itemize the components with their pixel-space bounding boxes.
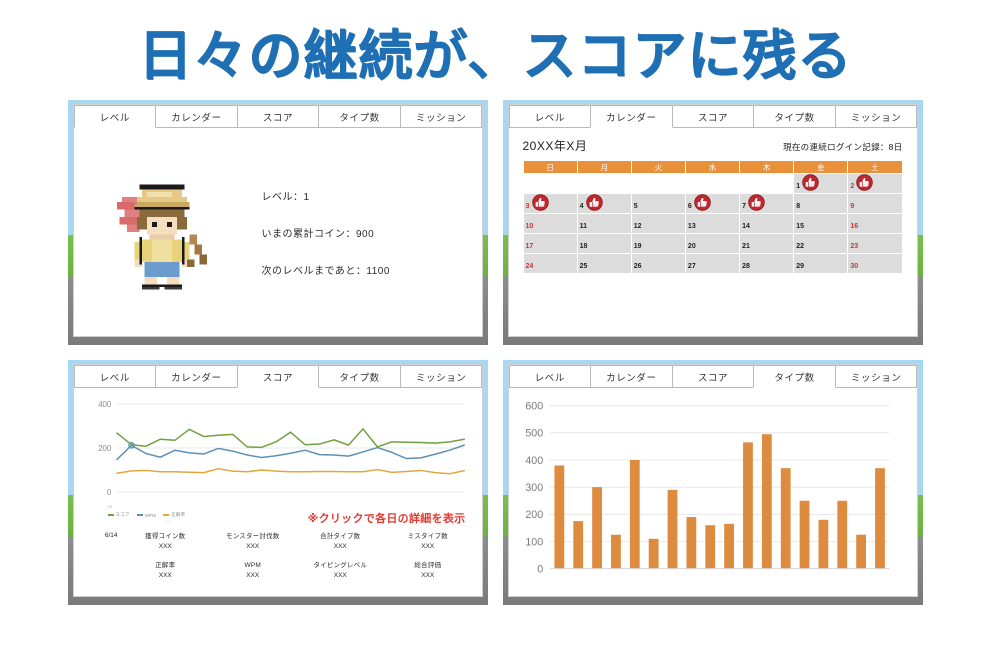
calendar-cell-15[interactable]: 15 [794,214,848,234]
legend-label: 正解率 [171,512,185,518]
calendar-day-number: 28 [742,263,750,270]
tabbar-typecount: レベル カレンダー スコア タイプ数 ミッション [509,365,917,388]
calendar-week-row: 1 2 [523,174,902,194]
calendar-day-number: 15 [796,223,804,230]
tabbar-level: レベル カレンダー スコア タイプ数 ミッション [74,105,482,128]
calendar-day-number: 30 [850,263,858,270]
calendar-cell-27[interactable]: 27 [685,254,739,274]
detail-row-2: 正解率XXXWPMXXXタイピングレベルXXX総合評価XXX [84,561,472,581]
calendar-cell-9[interactable]: 9 [848,194,902,214]
calendar-day-number: 19 [634,243,642,250]
thumbs-up-stamp-icon [748,194,765,211]
svg-text:0: 0 [106,488,111,497]
calendar-day-number: 27 [688,263,696,270]
click-hint-note: ※クリックで各日の詳細を表示 [308,510,466,526]
tab-calendar[interactable]: カレンダー [590,365,673,387]
svg-text:200: 200 [525,509,543,521]
tab-score[interactable]: スコア [672,105,755,127]
calendar-cell-29[interactable]: 29 [794,254,848,274]
svg-text:200: 200 [98,444,112,453]
tab-score[interactable]: スコア [237,365,320,388]
daily-detail-table: 6/14 獲得コイン数XXXモンスター討伐数XXX合計タイプ数XXXミスタイプ数… [74,532,482,590]
calendar-cell-5[interactable]: 5 [631,194,685,214]
calendar-day-number: 24 [526,263,534,270]
calendar-day-number: 1 [796,183,800,190]
detail-cell-label: 合計タイプ数 [297,532,385,542]
calendar-cell-12[interactable]: 12 [631,214,685,234]
tab-calendar[interactable]: カレンダー [590,105,673,128]
chart-axis-minor-label: 70 [108,504,112,509]
calendar-cell-3[interactable]: 3 [523,194,577,214]
detail-cell-value: XXX [297,571,385,581]
svg-text:100: 100 [525,536,543,548]
tab-calendar[interactable]: カレンダー [155,105,238,127]
calendar-day-number: 16 [850,223,858,230]
calendar-day-number: 13 [688,223,696,230]
detail-cell-value: XXX [122,571,210,581]
calendar-cell-empty [631,174,685,194]
tabbar-calendar: レベル カレンダー スコア タイプ数 ミッション [509,105,917,128]
calendar-cell-7[interactable]: 7 [740,194,794,214]
calendar-cell-19[interactable]: 19 [631,234,685,254]
tab-score[interactable]: スコア [672,365,755,387]
detail-cell-value: XXX [297,542,385,552]
page-title-bar: 日々の継続が、スコアに残る [0,0,990,100]
detail-cell-label: 獲得コイン数 [122,532,210,542]
calendar-day-number: 6 [688,203,692,210]
calendar-cell-empty [577,174,631,194]
panel-calendar: レベル カレンダー スコア タイプ数 ミッション 20XX年X月 現在の連続ログ… [503,100,923,345]
calendar-cell-21[interactable]: 21 [740,234,794,254]
svg-text:500: 500 [525,428,543,440]
calendar-cell-empty [685,174,739,194]
thumbs-up-stamp-icon [694,194,711,211]
calendar-day-number: 18 [580,243,588,250]
panel-score: レベル カレンダー スコア タイプ数 ミッション 0200400 70 スコアW… [68,360,488,605]
calendar-weekday-1: 月 [577,161,631,174]
thumbs-up-stamp-icon [586,194,603,211]
calendar-day-number: 22 [796,243,804,250]
calendar-cell-8[interactable]: 8 [794,194,848,214]
thumbs-up-stamp-icon [856,174,873,191]
svg-text:600: 600 [525,401,543,413]
legend-swatch [163,514,169,516]
tab-typecount[interactable]: タイプ数 [753,365,836,388]
legend-item-2: 正解率 [163,512,185,518]
score-line-chart[interactable]: 0200400 [84,396,472,514]
tab-typecount[interactable]: タイプ数 [753,105,836,127]
tab-typecount[interactable]: タイプ数 [318,105,401,127]
thumbs-up-stamp-icon [802,174,819,191]
calendar-month-label: 20XX年X月 [523,137,588,154]
svg-text:300: 300 [525,482,543,494]
calendar-day-number: 11 [580,223,587,230]
calendar-day-number: 4 [580,203,584,210]
calendar-day-number: 2 [850,183,854,190]
login-streak-label: 現在の連続ログイン記録：8日 [783,141,902,153]
tab-level[interactable]: レベル [74,105,157,128]
calendar-header: 20XX年X月 現在の連続ログイン記録：8日 [509,128,917,160]
legend-swatch [108,514,114,516]
calendar-day-number: 7 [742,203,746,210]
calendar-cell-2[interactable]: 2 [848,174,902,194]
calendar-weekday-6: 土 [848,161,902,174]
tab-score[interactable]: スコア [237,105,320,127]
detail-cell-0: 正解率XXX [122,561,210,581]
tab-mission[interactable]: ミッション [400,105,483,127]
detail-cell-label: モンスター討伐数 [209,532,297,542]
calendar-day-number: 29 [796,263,804,270]
tab-level[interactable]: レベル [509,365,592,387]
detail-cell-label: タイピングレベル [297,561,385,571]
calendar-cell-26[interactable]: 26 [631,254,685,274]
calendar-day-number: 5 [634,203,638,210]
calendar-day-number: 8 [796,203,800,210]
svg-text:0: 0 [537,564,543,576]
detail-cell-2: 合計タイプ数XXX [297,532,385,552]
detail-cell-label: WPM [209,561,297,571]
calendar-grid: 日月火水木金土 1 2 3 4 56 7 8910111 [523,160,903,274]
legend-item-0: スコア [108,512,130,518]
calendar-day-number: 10 [526,223,534,230]
calendar-cell-1[interactable]: 1 [794,174,848,194]
calendar-day-number: 23 [850,243,858,250]
coin-total-line: いまの累計コイン：900 [262,225,464,240]
calendar-cell-22[interactable]: 22 [794,234,848,254]
calendar-cell-10[interactable]: 10 [523,214,577,234]
calendar-week-row: 17181920212223 [523,234,902,254]
calendar-cell-18[interactable]: 18 [577,234,631,254]
calendar-weekday-4: 木 [740,161,794,174]
calendar-week-row: 3 4 56 7 89 [523,194,902,214]
calendar-day-number: 25 [580,263,588,270]
detail-cell-value: XXX [384,542,472,552]
tab-mission[interactable]: ミッション [835,105,918,127]
legend-item-1: WPM [137,512,157,518]
calendar-cell-13[interactable]: 13 [685,214,739,234]
detail-cell-1: WPMXXX [209,561,297,581]
detail-cell-3: ミスタイプ数XXX [384,532,472,552]
calendar-cell-empty [523,174,577,194]
score-chart-legend: スコアWPM正解率 [108,512,186,518]
detail-cell-0: 獲得コイン数XXX [122,532,210,552]
pixel-hero-avatar-icon [112,172,222,292]
detail-cell-label: 正解率 [122,561,210,571]
detail-cell-2: タイピングレベルXXX [297,561,385,581]
next-level-line: 次のレベルまであと：1100 [262,262,464,277]
calendar-day-number: 14 [742,223,750,230]
legend-swatch [137,514,143,516]
calendar-weekday-5: 金 [794,161,848,174]
page-title: 日々の継続が、スコアに残る [138,11,852,90]
thumbs-up-stamp-icon [532,194,549,211]
calendar-cell-4[interactable]: 4 [577,194,631,214]
detail-cell-label: ミスタイプ数 [384,532,472,542]
legend-label: WPM [145,513,157,518]
detail-cell-value: XXX [122,542,210,552]
panel-level: レベル カレンダー スコア タイプ数 ミッション [68,100,488,345]
detail-cell-value: XXX [209,571,297,581]
calendar-cell-empty [740,174,794,194]
svg-text:400: 400 [98,400,112,409]
calendar-day-number: 17 [526,243,534,250]
detail-row-1: 6/14 獲得コイン数XXXモンスター討伐数XXX合計タイプ数XXXミスタイプ数… [84,532,472,552]
level-value-line: レベル：1 [262,188,464,203]
calendar-cell-30[interactable]: 30 [848,254,902,274]
calendar-day-number: 9 [850,203,854,210]
calendar-week-row: 10111213141516 [523,214,902,234]
detail-cell-1: モンスター討伐数XXX [209,532,297,552]
calendar-cell-24[interactable]: 24 [523,254,577,274]
calendar-cell-17[interactable]: 17 [523,234,577,254]
calendar-cell-14[interactable]: 14 [740,214,794,234]
calendar-weekday-0: 日 [523,161,577,174]
calendar-week-row: 24252627282930 [523,254,902,274]
tab-calendar[interactable]: カレンダー [155,365,238,387]
calendar-weekday-3: 水 [685,161,739,174]
calendar-cell-28[interactable]: 28 [740,254,794,274]
tab-mission[interactable]: ミッション [400,365,483,387]
calendar-day-number: 26 [634,263,642,270]
detail-cell-value: XXX [384,571,472,581]
typecount-bar-chart[interactable]: 0100200300400500600 [509,388,917,596]
detail-cell-value: XXX [209,542,297,552]
calendar-day-number: 21 [742,243,750,250]
detail-cell-3: 総合評価XXX [384,561,472,581]
tab-mission[interactable]: ミッション [835,365,918,387]
panel-typecount: レベル カレンダー スコア タイプ数 ミッション 010020030040050… [503,360,923,605]
level-stats: レベル：1 いまの累計コイン：900 次のレベルまであと：1100 [222,188,464,277]
detail-date-label: 6/14 [84,532,122,539]
calendar-cell-16[interactable]: 16 [848,214,902,234]
svg-text:400: 400 [525,455,543,467]
tabbar-score: レベル カレンダー スコア タイプ数 ミッション [74,365,482,388]
calendar-cell-11[interactable]: 11 [577,214,631,234]
calendar-cell-20[interactable]: 20 [685,234,739,254]
legend-label: スコア [116,512,130,518]
tab-level[interactable]: レベル [74,365,157,387]
calendar-weekday-2: 火 [631,161,685,174]
panel-grid: レベル カレンダー スコア タイプ数 ミッション [0,100,990,605]
calendar-weekday-row: 日月火水木金土 [523,161,902,174]
calendar-day-number: 20 [688,243,696,250]
detail-cell-label: 総合評価 [384,561,472,571]
calendar-day-number: 3 [526,203,530,210]
calendar-day-number: 12 [634,223,642,230]
tab-level[interactable]: レベル [509,105,592,127]
calendar-cell-23[interactable]: 23 [848,234,902,254]
calendar-cell-6[interactable]: 6 [685,194,739,214]
tab-typecount[interactable]: タイプ数 [318,365,401,387]
calendar-cell-25[interactable]: 25 [577,254,631,274]
